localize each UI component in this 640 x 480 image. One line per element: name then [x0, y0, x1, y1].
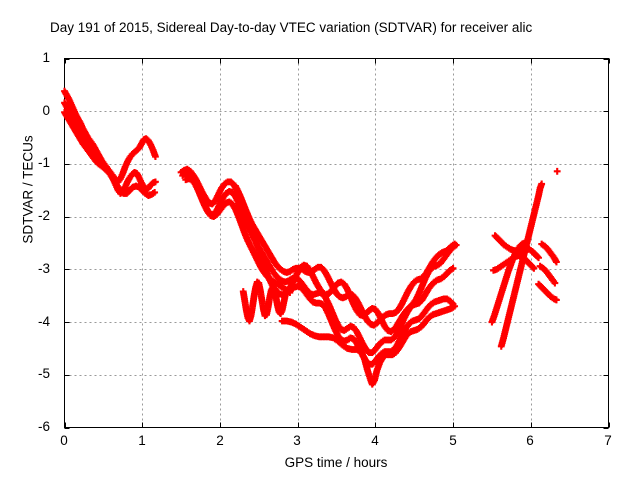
plot-root: Day 191 of 2015, Sidereal Day-to-day VTE…: [0, 0, 640, 480]
plot-canvas: [0, 0, 640, 480]
data-markers: [61, 88, 561, 388]
